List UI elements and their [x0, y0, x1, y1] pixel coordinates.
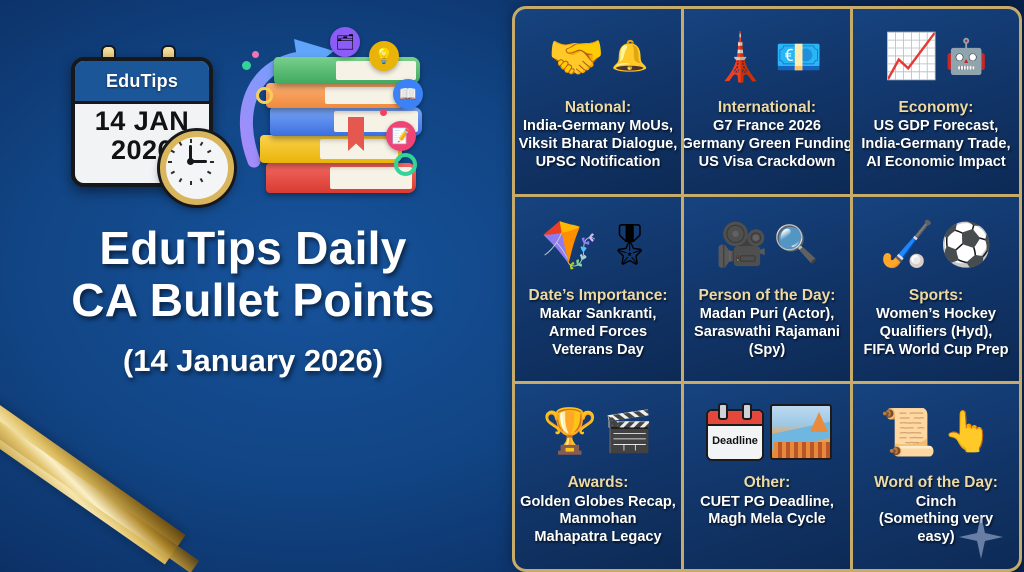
soccer-ball-icon: ⚽: [940, 224, 992, 266]
cell-body-line: AI Economic Impact: [861, 154, 1010, 172]
cell-artwork: 🪁 🎖: [541, 207, 655, 283]
calendar-graphic: EduTips 14 JAN 2026: [63, 45, 238, 195]
cell-body-line: Germany Green Funding: [684, 136, 850, 154]
cell-body-line: Magh Mela Cycle: [700, 511, 834, 529]
cell-body-line: Makar Sankranti,: [540, 306, 657, 324]
decor-ring-green: [394, 153, 417, 176]
cell-body: India-Germany MoUs, Viksit Bharat Dialog…: [519, 118, 678, 171]
cell-artwork: 🏆 🎬: [543, 394, 654, 470]
calendar-date-line1: 14 JAN: [95, 108, 190, 135]
cell-header: Word of the Day:: [874, 474, 998, 492]
grid-cell-sports[interactable]: 🏑 ⚽ Sports: Women’s Hockey Qualifiers (H…: [853, 197, 1019, 382]
spy-magnifier-icon: 🔍: [774, 227, 819, 263]
cell-artwork: 🎥 🔍: [715, 207, 818, 283]
title-line-2: CA Bullet Points: [0, 274, 506, 326]
cell-body-line: FIFA World Cup Prep: [863, 342, 1008, 360]
cell-header: Other:: [744, 474, 791, 492]
cell-body-line: Cinch: [879, 494, 993, 512]
actor-camera-icon: 🎥: [715, 224, 767, 266]
clock-tick: [179, 178, 182, 182]
cell-body-line: (Spy): [694, 342, 840, 360]
clock-tick: [207, 171, 211, 174]
poster-title: EduTips Daily CA Bullet Points (14 Janua…: [0, 222, 506, 381]
book-open-icon: 📖: [393, 79, 423, 109]
decor-dot-pink: [252, 51, 259, 58]
grid-cell-person-of-the-day[interactable]: 🎥 🔍 Person of the Day: Madan Puri (Actor…: [684, 197, 850, 382]
cell-header: National:: [565, 99, 631, 117]
scroll-icon: 📜: [879, 409, 936, 455]
clock-tick: [190, 139, 192, 143]
grid-cell-national[interactable]: 🤝 🔔 National: India-Germany MoUs, Viksit…: [515, 9, 681, 194]
cell-header: International:: [718, 99, 816, 117]
note-edit-icon: 📝: [386, 121, 416, 151]
clock-tick: [171, 171, 175, 174]
cell-body: US GDP Forecast, India-Germany Trade, AI…: [861, 118, 1010, 171]
growth-chart-icon: 📈: [884, 35, 939, 79]
left-hero-panel: EduTips 14 JAN 2026: [0, 0, 506, 572]
euro-banknotes-icon: 💶: [775, 38, 822, 76]
cell-artwork: 📈 🤖: [884, 19, 987, 95]
cell-body-line: G7 France 2026: [684, 118, 850, 136]
cell-body-line: Women’s Hockey: [863, 306, 1008, 324]
clock-tick: [179, 142, 182, 146]
robot-icon: 🤖: [945, 40, 987, 74]
cell-body: Makar Sankranti, Armed Forces Veterans D…: [540, 306, 657, 359]
clock-tick: [200, 142, 203, 146]
cell-body-line: (Something very: [879, 511, 993, 529]
cell-body-line: Golden Globes Recap,: [520, 494, 676, 512]
pointing-hand-icon: 👆: [943, 412, 993, 452]
sun-kite-icon: 🪁: [541, 222, 598, 268]
cell-body-line: CUET PG Deadline,: [700, 494, 834, 512]
book-orange: [266, 83, 406, 108]
cell-body-line: Qualifiers (Hyd),: [863, 324, 1008, 342]
grid-cell-dates-importance[interactable]: 🪁 🎖 Date’s Importance: Makar Sankranti, …: [515, 197, 681, 382]
cell-header: Economy:: [899, 99, 974, 117]
cell-body-line: Armed Forces: [540, 324, 657, 342]
cell-body: G7 France 2026 Germany Green Funding US …: [684, 118, 850, 171]
clapperboard-icon: 🎬: [603, 412, 653, 452]
cell-body: Golden Globes Recap, Manmohan Mahapatra …: [520, 494, 676, 547]
poster-canvas: EduTips 14 JAN 2026: [0, 0, 1024, 572]
cell-body-line: India-Germany Trade,: [861, 136, 1010, 154]
clock-tick: [200, 178, 203, 182]
folder-icon: 🗂: [330, 27, 360, 57]
lightbulb-icon: 💡: [369, 41, 399, 71]
grid-cell-word-of-the-day[interactable]: 📜 👆 Word of the Day: Cinch (Something ve…: [853, 384, 1019, 569]
title-line-3: (14 January 2026): [0, 341, 506, 381]
cell-body-line: Manmohan: [520, 511, 676, 529]
cell-header: Awards:: [568, 474, 629, 492]
book-yellow: [260, 135, 402, 163]
cell-body-line: Veterans Day: [540, 342, 657, 360]
cell-header: Person of the Day:: [699, 287, 836, 305]
decor-ring-yellow: [256, 87, 273, 104]
cell-body-line: India-Germany MoUs,: [519, 118, 678, 136]
calendar-header: EduTips: [75, 61, 209, 104]
grid-cell-economy[interactable]: 📈 🤖 Economy: US GDP Forecast, India-Germ…: [853, 9, 1019, 194]
grid-cell-international[interactable]: 🗼 💶 International: G7 France 2026 German…: [684, 9, 850, 194]
cell-body: Women’s Hockey Qualifiers (Hyd), FIFA Wo…: [863, 306, 1008, 359]
cell-body-line: US Visa Crackdown: [684, 154, 850, 172]
cell-body-line: US GDP Forecast,: [861, 118, 1010, 136]
cell-body-line: Madan Puri (Actor),: [694, 306, 840, 324]
clock-tick: [207, 150, 211, 153]
cell-artwork: 📜 👆: [879, 394, 992, 470]
globe-trophy-icon: 🏆: [543, 410, 598, 454]
magh-mela-river-icon: [770, 404, 832, 460]
cell-body-line: Mahapatra Legacy: [520, 529, 676, 547]
cell-artwork: 🗼 💶: [712, 19, 823, 95]
cell-header: Date’s Importance:: [529, 287, 668, 305]
cell-body-line: UPSC Notification: [519, 154, 678, 172]
clock-tick: [190, 181, 192, 185]
clock-tick: [171, 150, 175, 153]
decor-dot-red: [380, 109, 387, 116]
cell-body: Madan Puri (Actor), Saraswathi Rajamani …: [694, 306, 840, 359]
cell-body: CUET PG Deadline, Magh Mela Cycle: [700, 494, 834, 530]
clock-tick: [210, 161, 214, 163]
clock-tick: [168, 161, 172, 163]
cell-body-line: Saraswathi Rajamani: [694, 324, 840, 342]
cell-artwork: Deadline: [702, 394, 832, 470]
cell-artwork: 🏑 ⚽: [879, 207, 992, 283]
deadline-calendar-icon: Deadline: [702, 403, 764, 461]
grid-cell-awards[interactable]: 🏆 🎬 Awards: Golden Globes Recap, Manmoha…: [515, 384, 681, 569]
bell-notification-icon: 🔔: [611, 42, 648, 72]
cell-header: Sports:: [909, 287, 963, 305]
deadline-label: Deadline: [708, 426, 762, 447]
bullet-points-grid: 🤝 🔔 National: India-Germany MoUs, Viksit…: [512, 6, 1022, 572]
eiffel-tower-icon: 🗼: [712, 34, 769, 80]
cell-artwork: 🤝 🔔: [548, 19, 649, 95]
crossed-flags-handshake-icon: 🤝: [548, 34, 605, 80]
decor-dot-green: [242, 61, 251, 70]
field-hockey-icon: 🏑: [879, 223, 934, 267]
title-line-1: EduTips Daily: [0, 222, 506, 274]
calendar-brand-label: EduTips: [106, 71, 178, 92]
military-medal-icon: 🎖: [604, 225, 655, 265]
stack-of-books-illustration: 🗂 💡 📖 📝: [238, 25, 433, 210]
clock-icon: [160, 131, 234, 205]
cell-body-line: Viksit Bharat Dialogue,: [519, 136, 678, 154]
grid-cell-other[interactable]: Deadline Other: CUET PG Deadline, Magh M…: [684, 384, 850, 569]
clock-center-pin: [187, 158, 194, 165]
